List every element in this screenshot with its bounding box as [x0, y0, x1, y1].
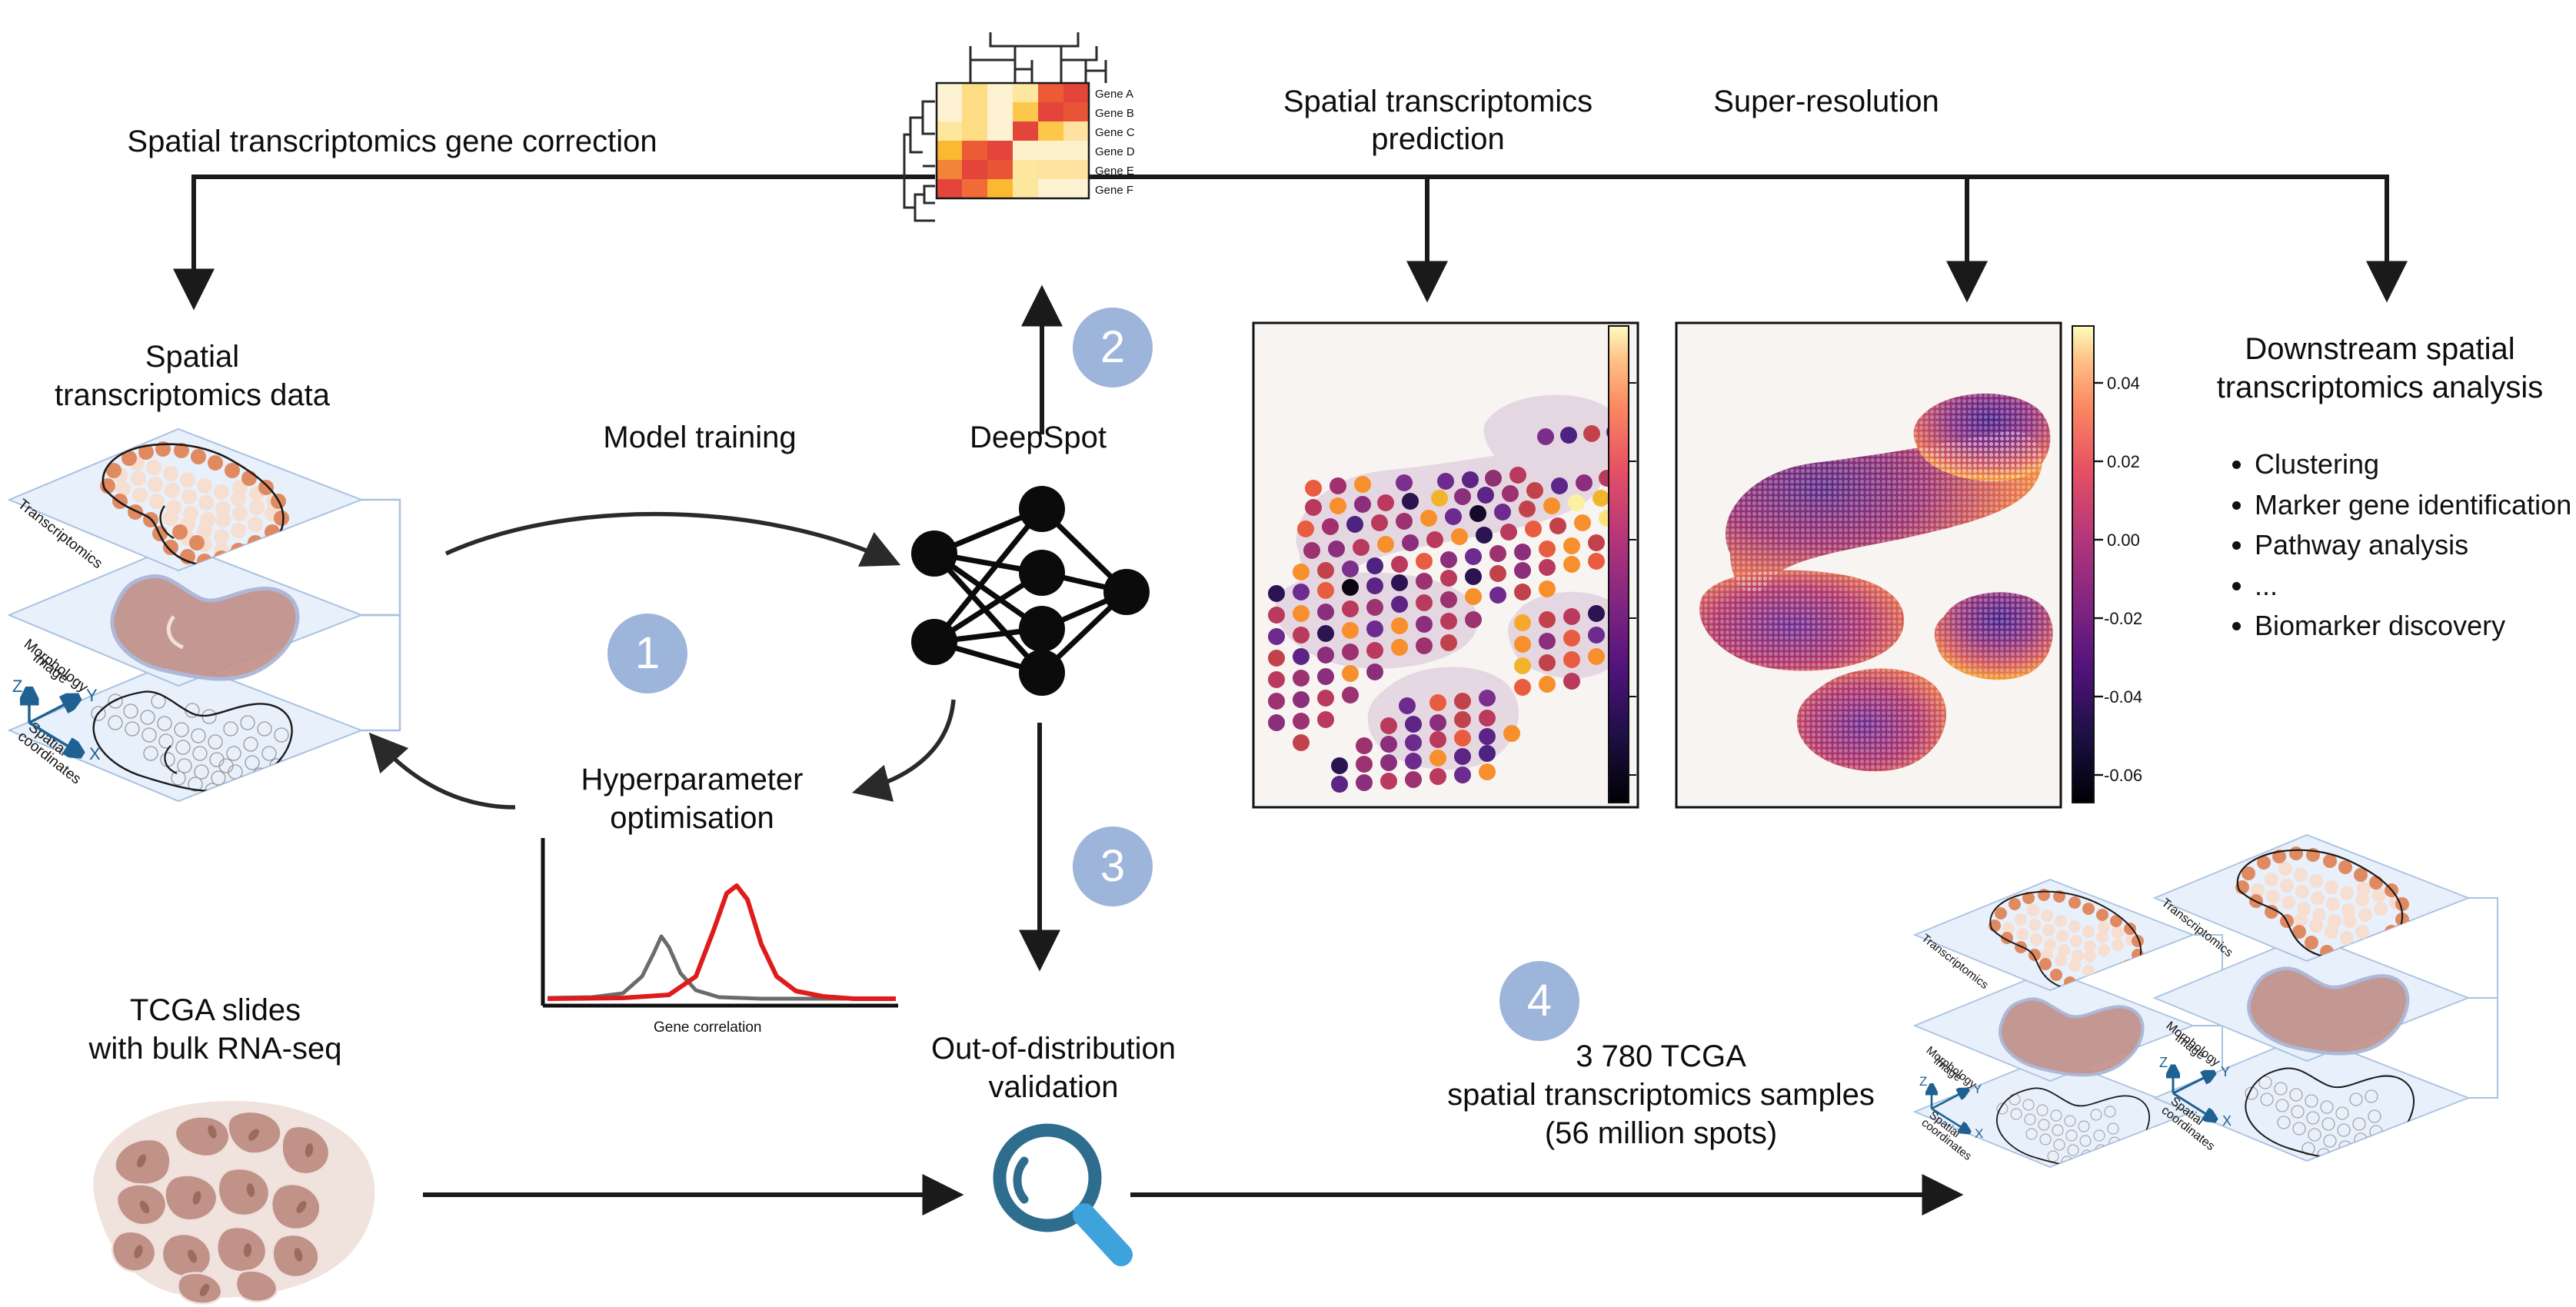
tcga-output-line2: spatial transcriptomics samples	[1399, 1076, 1922, 1114]
heatmap-row-dendrogram	[904, 101, 935, 221]
colorbar-tick-0: 0.04	[2107, 374, 2140, 393]
hyperparameter-xlabel: Gene correlation	[654, 1019, 761, 1036]
model-training-arrow	[431, 461, 984, 661]
colorbar-tick-3: -0.02	[2104, 609, 2142, 628]
deepspot-label: DeepSpot	[907, 419, 1169, 457]
top-arrows	[0, 0, 2576, 354]
heatmap-col-dendrogram	[970, 32, 1106, 83]
stack-back-axis-y: Y	[1973, 1082, 1982, 1096]
tcga-tissue-illustration	[62, 1076, 384, 1307]
colorbar-tick-4: -0.04	[2104, 687, 2142, 707]
list-item: Marker gene identification	[2255, 487, 2576, 524]
stack-front-axis-x: X	[2222, 1113, 2232, 1129]
stack-back-axis-z: Z	[1919, 1074, 1927, 1089]
tcga-output-stack-front: Transcriptomics Morphology image Spatial…	[2145, 823, 2499, 1222]
bottom-flow-arrows	[415, 1169, 2015, 1230]
badge-3: 3	[1073, 826, 1153, 906]
colorbar-tick-1: 0.02	[2107, 452, 2140, 471]
badge-2: 2	[1073, 308, 1153, 387]
svg-text:Gene F: Gene F	[1095, 184, 1133, 197]
list-item: Clustering	[2255, 446, 2576, 484]
hyperparameter-plot: Gene correlation	[508, 823, 907, 1053]
stack-front-axis-z: Z	[2159, 1055, 2168, 1070]
badge-4-number: 4	[1527, 979, 1552, 1023]
tcga-slides-title-line1: TCGA slides	[46, 992, 384, 1029]
list-item: ...	[2255, 567, 2576, 605]
colorbar-tick-5: -0.06	[2104, 766, 2142, 785]
axis-label-y: Y	[86, 686, 98, 705]
colorbar-tick-2: 0.00	[2107, 530, 2140, 550]
tcga-output-line1: 3 780 TCGA	[1446, 1038, 1876, 1076]
list-item: Pathway analysis	[2255, 527, 2576, 564]
list-item: Biomarker discovery	[2255, 607, 2576, 645]
svg-text:Gene A: Gene A	[1095, 88, 1133, 101]
badge-1-number: 1	[635, 631, 660, 676]
prediction-colorbar	[1607, 323, 1638, 807]
downstream-title-line2: transcriptomics analysis	[2184, 369, 2576, 407]
badge-4: 4	[1499, 961, 1579, 1041]
spatial-prediction-panel	[1253, 323, 1646, 815]
super-resolution-colorbar: 0.04 0.02 0.00 -0.02 -0.04 -0.06	[2030, 323, 2145, 815]
gene-correlation-heatmap: Gene A Gene B Gene C Gene D Gene E Gene …	[907, 15, 1169, 292]
svg-text:Gene B: Gene B	[1095, 107, 1134, 120]
heatmap-row-labels: Gene A Gene B Gene C Gene D Gene E Gene …	[1095, 88, 1135, 197]
deepspot-to-hyperparameter-arrow	[800, 692, 1000, 846]
ood-title-line2: validation	[877, 1069, 1230, 1106]
ood-title-line1: Out-of-distribution	[877, 1030, 1230, 1068]
downstream-title-line1: Downstream spatial	[2199, 331, 2561, 368]
stack-back-axis-x: X	[1975, 1126, 1983, 1141]
svg-text:Gene D: Gene D	[1095, 145, 1135, 158]
badge-2-number: 2	[1100, 325, 1125, 370]
super-resolution-panel	[1676, 323, 2068, 815]
tcga-output-line3: (56 million spots)	[1446, 1115, 1876, 1152]
hyperparameter-to-data-arrow	[361, 692, 561, 846]
stack-front-axis-y: Y	[2221, 1064, 2230, 1079]
svg-text:Gene C: Gene C	[1095, 126, 1135, 139]
badge-1: 1	[607, 614, 687, 693]
tcga-slides-title-line2: with bulk RNA-seq	[31, 1030, 400, 1068]
svg-text:Gene E: Gene E	[1095, 165, 1134, 178]
badge-3-number: 3	[1100, 844, 1125, 889]
heatmap-grid	[937, 83, 1089, 198]
axis-label-z: Z	[12, 677, 22, 696]
left-title-line1: Spatial	[31, 338, 354, 376]
model-training-label: Model training	[538, 419, 861, 457]
axis-label-x: X	[89, 744, 101, 763]
deepspot-network	[904, 477, 1173, 700]
downstream-analysis-list: Clustering Marker gene identification Pa…	[2215, 446, 2576, 648]
network-nodes	[911, 486, 1150, 696]
left-title-line2: transcriptomics data	[8, 377, 377, 414]
